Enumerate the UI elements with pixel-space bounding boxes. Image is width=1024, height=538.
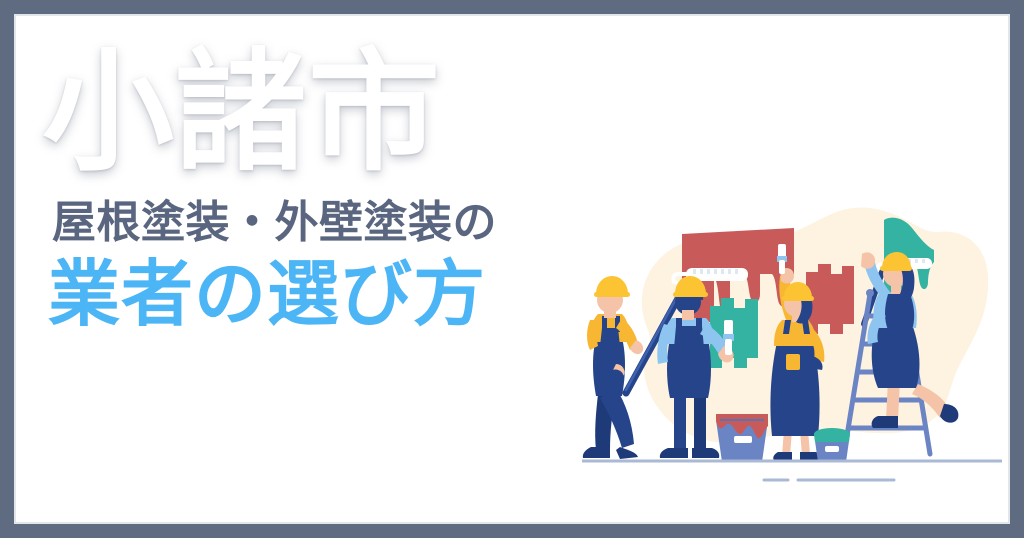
text-block: 小諸市 屋根塗装・外壁塗装の 業者の選び方 bbox=[42, 44, 602, 337]
figure-painter-with-roller-pole bbox=[583, 276, 643, 459]
paint-bucket-teal bbox=[814, 428, 850, 462]
banner-inner-panel: 小諸市 屋根塗装・外壁塗装の 業者の選び方 bbox=[14, 14, 1010, 524]
shoe-front bbox=[872, 416, 898, 428]
shoe-left bbox=[660, 448, 688, 458]
ladder-top-left-cap bbox=[866, 289, 874, 297]
subtitle-line: 屋根塗装・外壁塗装の bbox=[52, 196, 602, 250]
shoe-left bbox=[583, 447, 610, 458]
shoe-right bbox=[616, 447, 638, 459]
city-title: 小諸市 bbox=[42, 44, 602, 184]
house-painters-illustration bbox=[582, 198, 1002, 508]
headline-line: 業者の選び方 bbox=[48, 252, 602, 337]
banner-frame: 小諸市 屋根塗装・外壁塗装の 業者の選び方 bbox=[0, 0, 1024, 538]
shoe-right bbox=[692, 448, 719, 458]
paint-bucket-red bbox=[716, 414, 768, 462]
shoe-left bbox=[773, 452, 792, 460]
painters-scene-svg bbox=[582, 198, 1002, 508]
hard-hat bbox=[596, 276, 628, 294]
